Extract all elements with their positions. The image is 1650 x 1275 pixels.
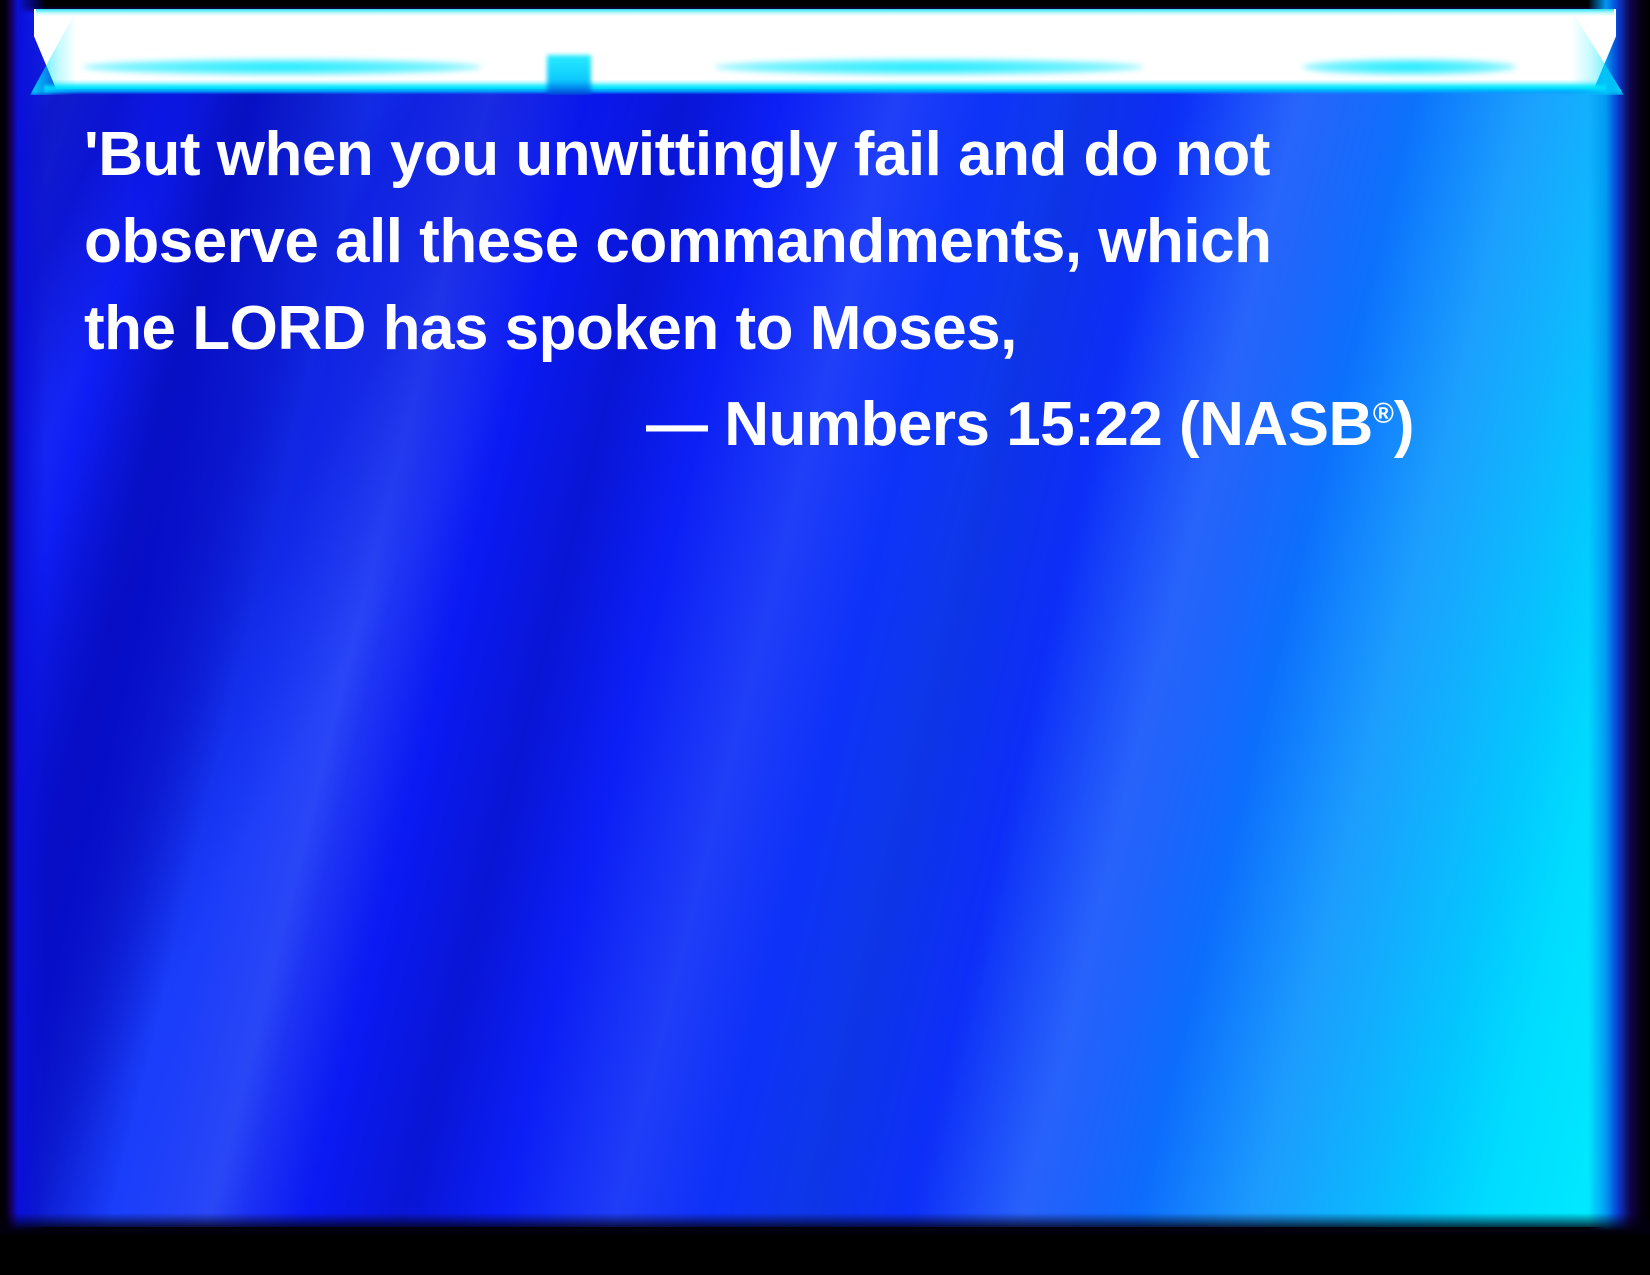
citation-suffix: ) (1394, 390, 1414, 459)
verse-line-3: the LORD has spoken to Moses, (84, 298, 1017, 360)
verse-line-1: 'But when you unwittingly fail and do no… (84, 124, 1270, 186)
citation-prefix: — Numbers 15:22 (NASB (646, 390, 1373, 459)
verse-line-2: observe all these commandments, which (84, 211, 1271, 273)
verse-citation: — Numbers 15:22 (NASB®) (646, 383, 1414, 456)
verse-slide: 'But when you unwittingly fail and do no… (0, 0, 1650, 1275)
registered-trademark-icon: ® (1373, 398, 1394, 430)
verse-text-block: 'But when you unwittingly fail and do no… (0, 0, 1650, 1275)
